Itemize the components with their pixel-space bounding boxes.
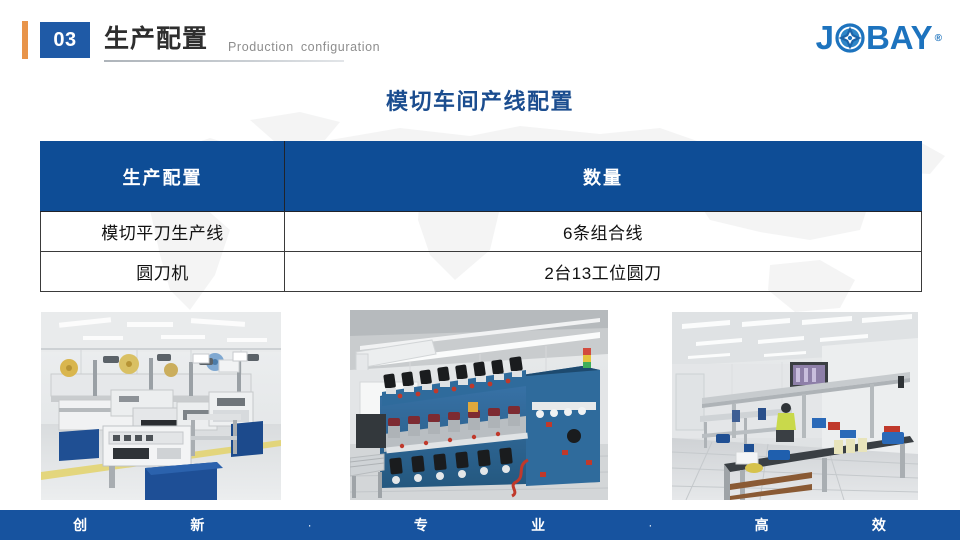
footer-separator-dot-1: ·: [648, 519, 652, 531]
jobay-diamond-o-icon: [835, 23, 865, 53]
page-title: 模切车间产线配置: [0, 84, 960, 116]
column-header-configuration: 生产配置: [41, 142, 285, 212]
logo-letter-j: J: [816, 21, 834, 55]
footer-word-4: 高: [755, 515, 770, 535]
column-header-quantity: 数量: [285, 142, 922, 212]
footer-word-2: 专: [414, 515, 429, 535]
slide-root: 03 生产配置 Production configuration J BAY ®…: [0, 0, 960, 540]
header-chinese-title: 生产配置: [104, 22, 208, 56]
rotary-die-cutting-machine-photo: [350, 310, 608, 500]
table-header-row: 生产配置 数量: [41, 142, 922, 212]
footer-slogan: 创 新 · 专 业 · 高 效: [0, 515, 960, 535]
photo-gallery: [0, 310, 960, 500]
footer-word-0: 创: [73, 515, 88, 535]
cell-quantity-1: 2台13工位圆刀: [285, 252, 922, 292]
footer-word-3: 业: [531, 515, 546, 535]
table-row: 模切平刀生产线 6条组合线: [41, 212, 922, 252]
die-cutting-flatbed-production-line-photo: [41, 312, 281, 500]
registered-trademark-icon: ®: [935, 22, 942, 56]
table-header: 生产配置 数量: [41, 142, 922, 212]
company-logo: J BAY ®: [816, 17, 942, 59]
production-configuration-table: 生产配置 数量 模切平刀生产线 6条组合线 圆刀机 2台13工位圆刀: [40, 141, 922, 292]
table-body: 模切平刀生产线 6条组合线 圆刀机 2台13工位圆刀: [41, 212, 922, 292]
assembly-workbench-workshop-photo: [672, 312, 918, 500]
logo-letters-bay: BAY: [866, 21, 933, 55]
footer-word-1: 新: [190, 515, 205, 535]
header-accent-bar: [22, 21, 28, 59]
cell-configuration-0: 模切平刀生产线: [41, 212, 285, 252]
cell-configuration-1: 圆刀机: [41, 252, 285, 292]
section-number-label: 03: [53, 29, 76, 52]
cell-quantity-0: 6条组合线: [285, 212, 922, 252]
table-row: 圆刀机 2台13工位圆刀: [41, 252, 922, 292]
footer-separator-dot-0: ·: [308, 519, 312, 531]
logo-wordmark: J BAY ®: [816, 20, 942, 56]
footer-word-5: 效: [872, 515, 887, 535]
slide-footer: 创 新 · 专 业 · 高 效: [0, 510, 960, 540]
header-underline-rule: [104, 60, 344, 62]
section-number-badge: 03: [40, 22, 90, 58]
header-english-subtitle: Production configuration: [228, 39, 380, 55]
